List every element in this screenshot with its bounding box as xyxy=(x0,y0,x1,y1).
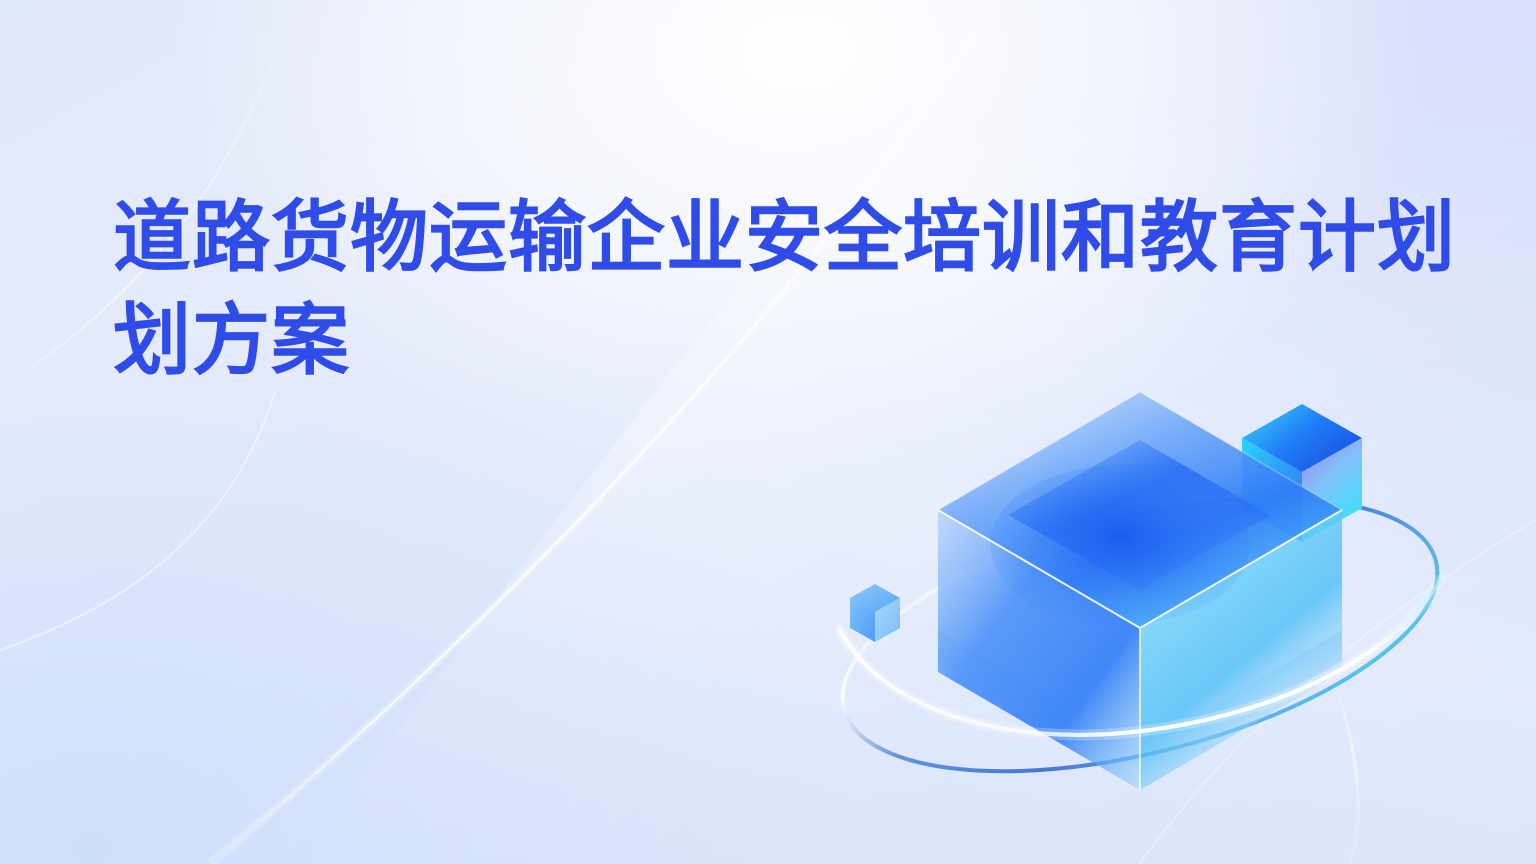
orbit-ring-blue xyxy=(816,447,1465,824)
slide-canvas: 道路货物运输企业安全培训和教育计划 划方案 xyxy=(0,0,1536,864)
main-glass-cube xyxy=(938,392,1342,790)
orbit-ring-tail xyxy=(1335,682,1358,864)
small-cube xyxy=(850,584,900,642)
orbit-ring-white xyxy=(840,580,1440,735)
medium-gradient-cube xyxy=(1242,404,1362,542)
sheen-wash xyxy=(300,0,1536,864)
background-decoration xyxy=(0,0,1536,864)
arc-right-streak xyxy=(1140,520,1536,864)
title-line-1: 道路货物运输企业安全培训和教育计划 xyxy=(113,186,1453,289)
arc-large xyxy=(210,0,1015,864)
cube-illustration-svg xyxy=(790,330,1510,864)
arc-large-glow xyxy=(210,0,1015,864)
slide-title: 道路货物运输企业安全培训和教育计划 划方案 xyxy=(113,186,1453,392)
title-line-2: 划方案 xyxy=(113,289,1453,392)
arc-mid-left xyxy=(0,392,275,660)
cube-illustration xyxy=(790,330,1510,864)
